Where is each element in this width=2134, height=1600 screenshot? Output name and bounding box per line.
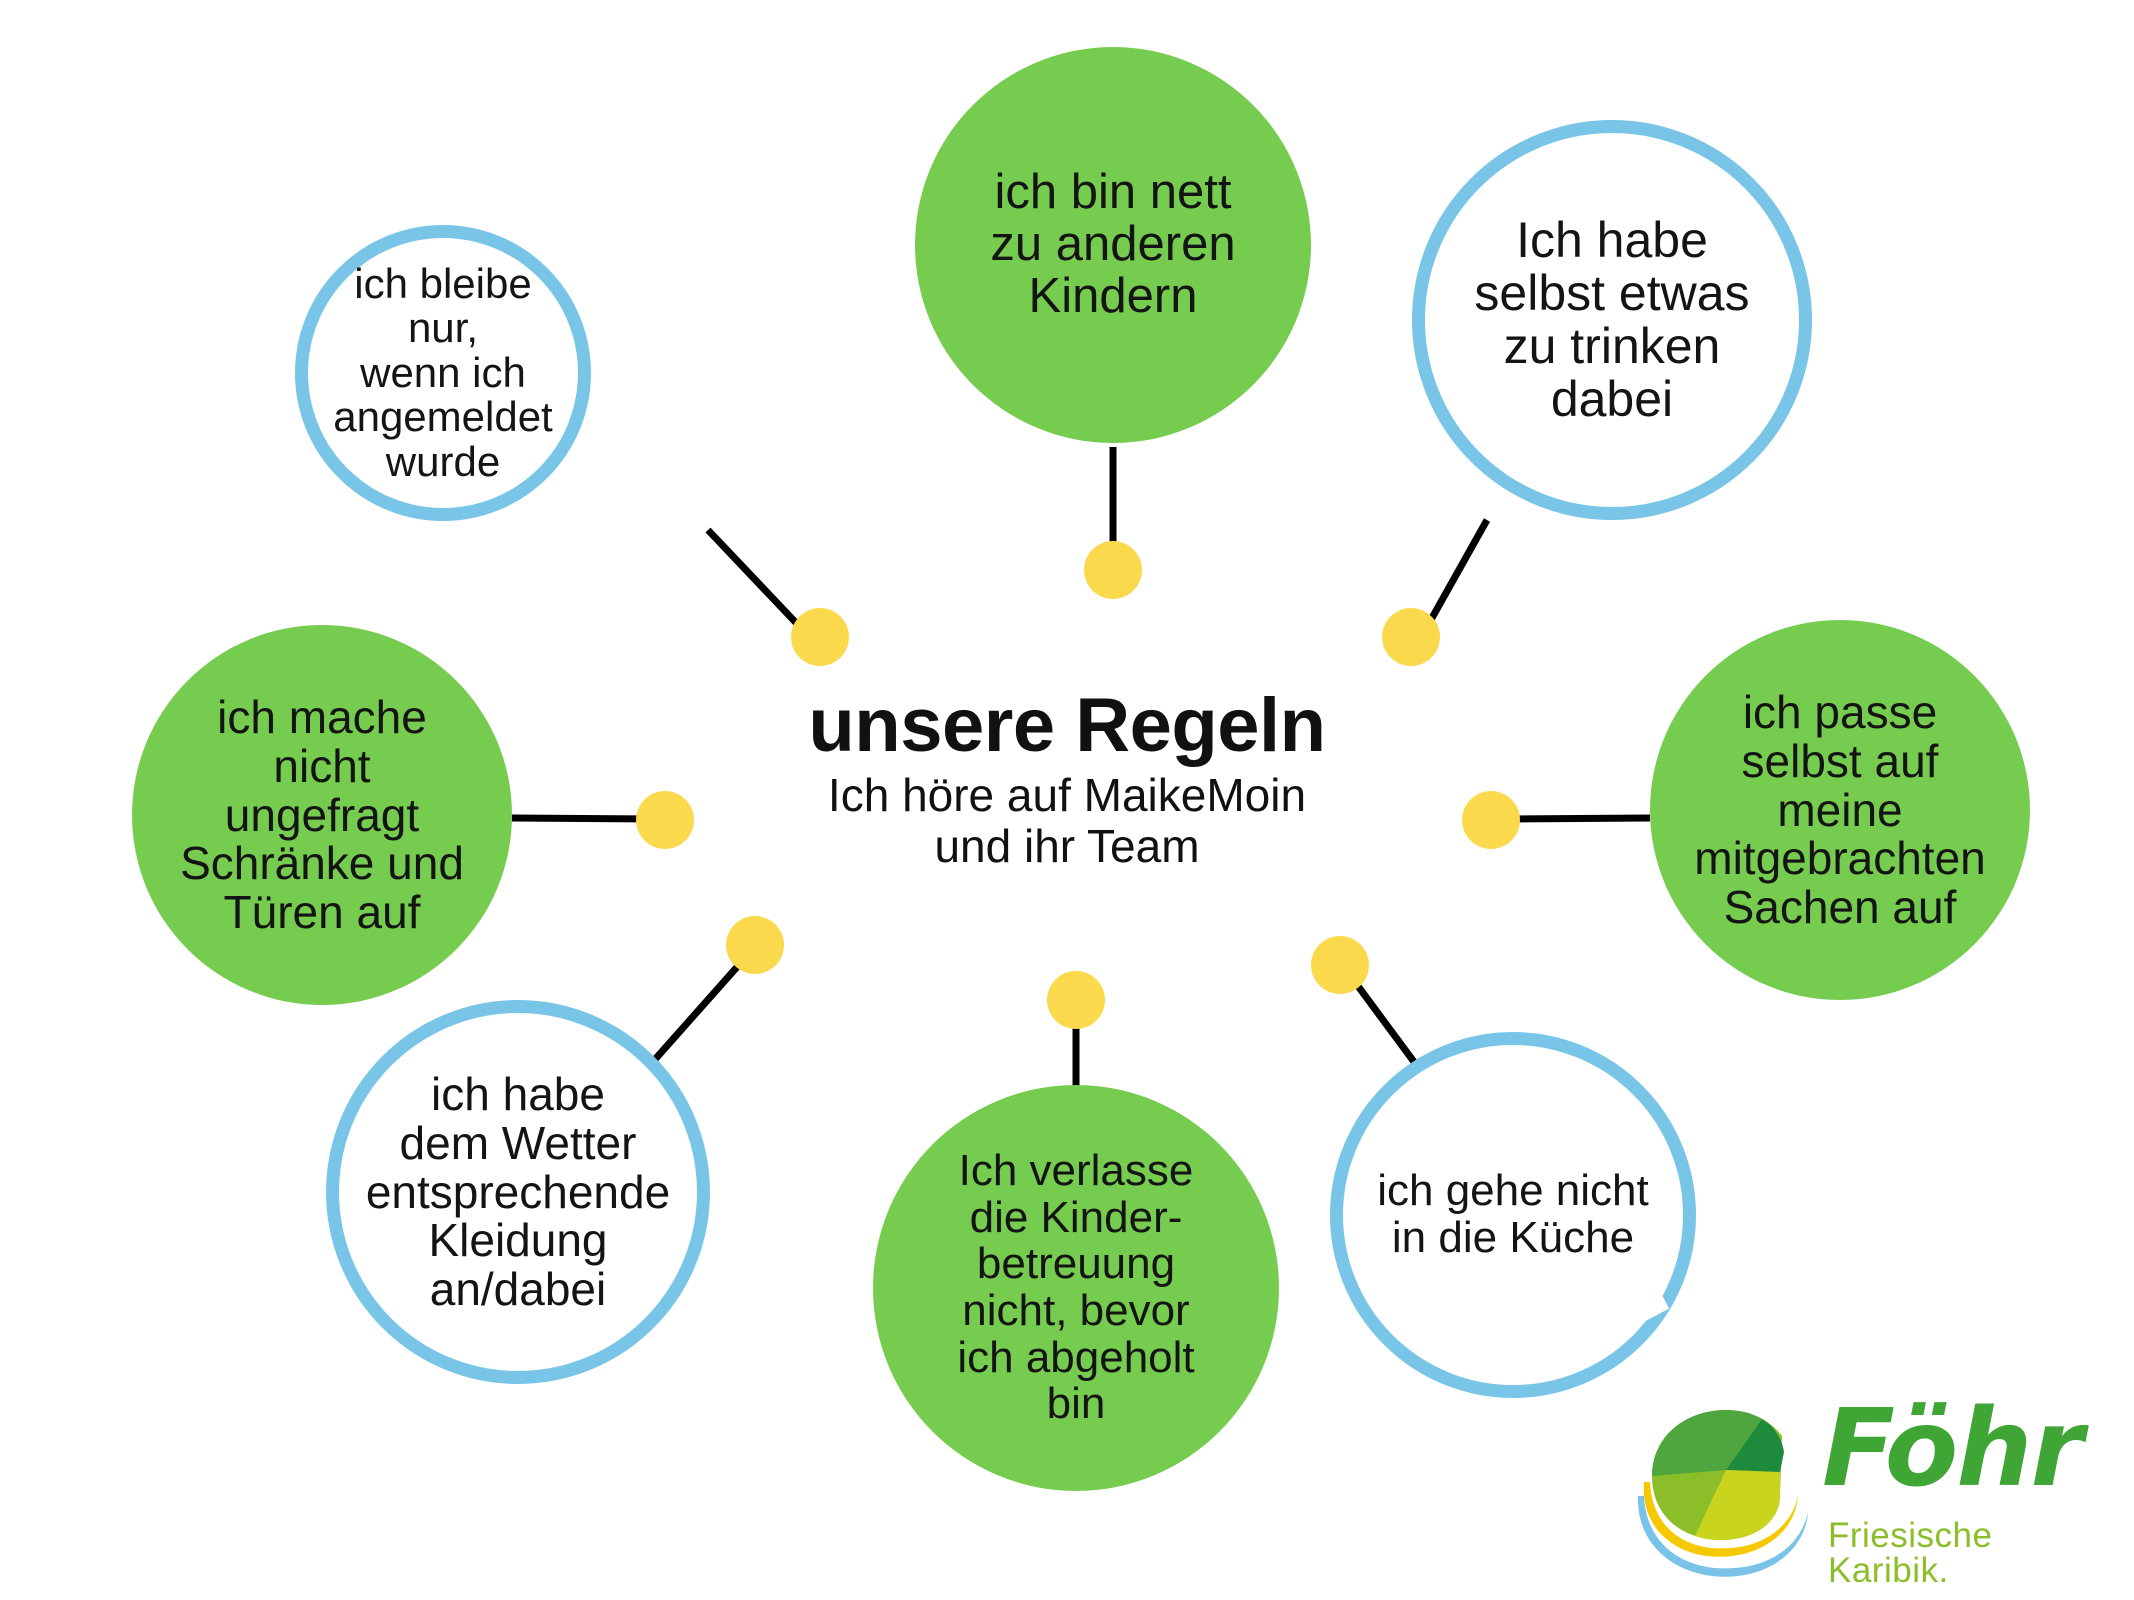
logo-tagline: Friesische Karibik. bbox=[1828, 1518, 2110, 1588]
center-label: unsere Regeln Ich höre auf MaikeMoin und… bbox=[567, 688, 1567, 871]
mindmap-canvas: ich bleibe nur, wenn ich angemeldet wurd… bbox=[0, 0, 2134, 1600]
page-subtitle: Ich höre auf MaikeMoin und ihr Team bbox=[567, 770, 1567, 871]
dot-angemeldet[interactable] bbox=[791, 608, 849, 666]
bubble-label: ich bleibe nur, wenn ich angemeldet wurd… bbox=[319, 262, 567, 485]
link-wetter bbox=[650, 958, 745, 1065]
dot-trinken[interactable] bbox=[1382, 608, 1440, 666]
bubble-label: Ich verlasse die Kinder- betreuung nicht… bbox=[889, 1148, 1263, 1428]
bubble-label: ich bin nett zu anderen Kindern bbox=[931, 167, 1295, 323]
link-kueche bbox=[1352, 978, 1420, 1070]
foehr-island-icon bbox=[1630, 1400, 1820, 1585]
dot-nett[interactable] bbox=[1084, 541, 1142, 599]
bubble-label: ich gehe nicht in die Küche bbox=[1357, 1168, 1670, 1261]
bubble-label: ich passe selbst auf meine mitgebrachten… bbox=[1665, 688, 2015, 932]
bubble-label: Ich habe selbst etwas zu trinken dabei bbox=[1440, 214, 1784, 426]
bubble-kueche[interactable]: ich gehe nicht in die Küche bbox=[1330, 1032, 1696, 1398]
bubble-schraenke-tueren[interactable]: ich mache nicht ungefragt Schränke und T… bbox=[132, 625, 512, 1005]
link-angemeldet bbox=[708, 530, 800, 627]
link-trinken bbox=[1428, 520, 1487, 625]
foehr-logo: Föhr Friesische Karibik. bbox=[1630, 1400, 2110, 1585]
bubble-wetter-kleidung[interactable]: ich habe dem Wetter entsprechende Kleidu… bbox=[326, 1000, 710, 1384]
logo-wordmark: Föhr bbox=[1822, 1396, 2081, 1503]
bubble-angemeldet[interactable]: ich bleibe nur, wenn ich angemeldet wurd… bbox=[295, 225, 591, 521]
bubble-trinken-dabei[interactable]: Ich habe selbst etwas zu trinken dabei bbox=[1412, 120, 1812, 520]
bubble-label: ich habe dem Wetter entsprechende Kleidu… bbox=[353, 1070, 682, 1314]
bubble-nett-zu-kindern[interactable]: ich bin nett zu anderen Kindern bbox=[915, 47, 1311, 443]
bubble-label: ich mache nicht ungefragt Schränke und T… bbox=[147, 693, 497, 937]
dot-wetter[interactable] bbox=[726, 916, 784, 974]
bubble-mitgebrachte-sachen[interactable]: ich passe selbst auf meine mitgebrachten… bbox=[1650, 620, 2030, 1000]
dot-kueche[interactable] bbox=[1311, 936, 1369, 994]
page-title: unsere Regeln bbox=[567, 688, 1567, 764]
dot-abgeholt[interactable] bbox=[1047, 971, 1105, 1029]
bubble-abgeholt[interactable]: Ich verlasse die Kinder- betreuung nicht… bbox=[873, 1085, 1279, 1491]
